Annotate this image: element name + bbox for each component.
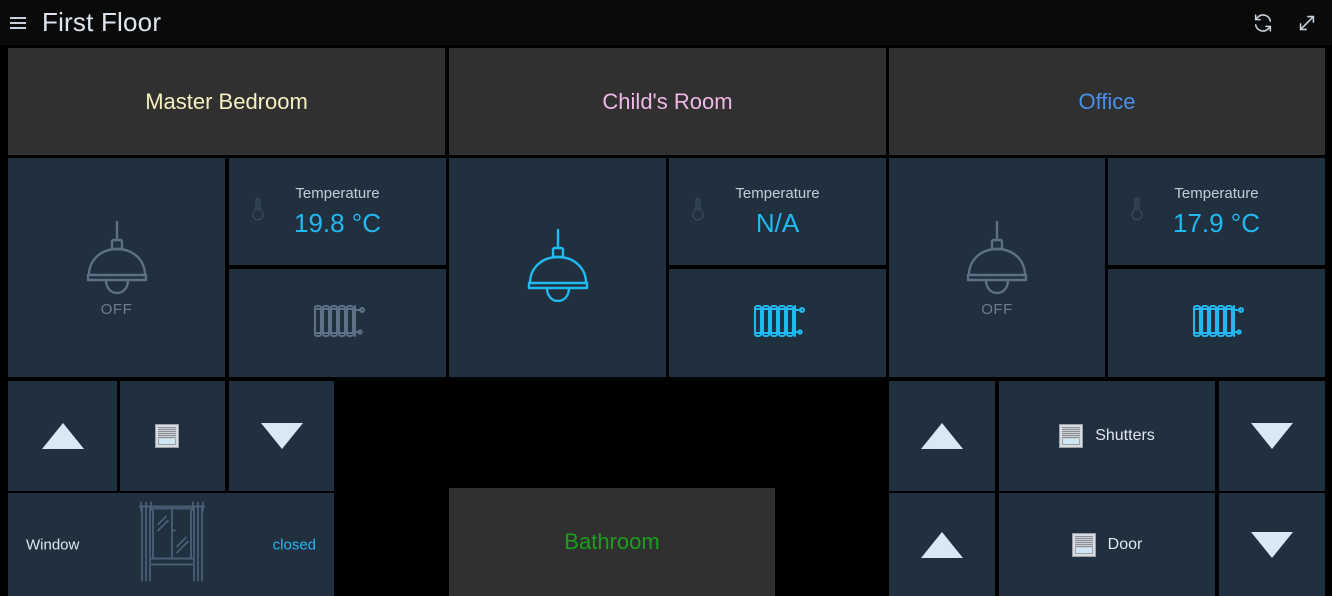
room-header-office[interactable]: Office: [889, 48, 1325, 155]
pendant-lamp-icon: [961, 218, 1033, 299]
cover-stop-label: Shutters: [1095, 427, 1155, 445]
blinds-icon: [1072, 533, 1096, 557]
refresh-icon[interactable]: [1252, 12, 1274, 34]
temperature-value: 17.9 °C: [1173, 206, 1260, 240]
room-label: Office: [1078, 89, 1135, 115]
light-tile-childs-room[interactable]: [449, 158, 666, 377]
window-with-curtains-icon: [128, 496, 214, 593]
app-header: First Floor: [0, 0, 1332, 45]
temperature-label: Temperature: [1174, 184, 1258, 204]
window-sensor-label: Window: [26, 536, 79, 553]
arrow-down-icon: [261, 423, 303, 449]
dashboard-grid: Master Bedroom Child's Room Office: [0, 45, 1332, 596]
temperature-value: 19.8 °C: [294, 206, 381, 240]
window-sensor-tile[interactable]: Window: [8, 493, 334, 596]
light-state-label: OFF: [101, 301, 133, 318]
pendant-lamp-icon: [81, 218, 153, 299]
cover-stop-button-master-bedroom[interactable]: [120, 381, 225, 491]
room-header-master-bedroom[interactable]: Master Bedroom: [8, 48, 445, 155]
room-header-childs-room[interactable]: Child's Room: [449, 48, 886, 155]
radiator-tile-office[interactable]: [1108, 269, 1325, 377]
temperature-label: Temperature: [735, 184, 819, 204]
thermometer-icon: [251, 196, 265, 227]
temperature-value: N/A: [756, 206, 799, 240]
blinds-icon: [155, 424, 179, 448]
room-label: Bathroom: [564, 529, 659, 555]
radiator-icon: [750, 298, 806, 349]
pendant-lamp-icon: [522, 226, 594, 307]
light-state-label: OFF: [981, 301, 1013, 318]
window-sensor-state: closed: [273, 536, 316, 553]
radiator-tile-master-bedroom[interactable]: [229, 269, 446, 377]
cover-down-button-master-bedroom[interactable]: [229, 381, 334, 491]
arrow-down-icon: [1251, 532, 1293, 558]
cover-up-button-office-shutters[interactable]: [889, 381, 995, 491]
room-header-bathroom[interactable]: Bathroom: [449, 488, 775, 596]
temperature-tile-office[interactable]: Temperature 17.9 °C: [1108, 158, 1325, 265]
radiator-tile-childs-room[interactable]: [669, 269, 886, 377]
room-label: Child's Room: [602, 89, 732, 115]
cover-stop-button-office-door[interactable]: Door: [999, 493, 1215, 596]
arrow-up-icon: [921, 423, 963, 449]
cover-stop-button-office-shutters[interactable]: Shutters: [999, 381, 1215, 491]
header-actions: [1252, 12, 1318, 34]
thermometer-icon: [691, 196, 705, 227]
radiator-icon: [310, 298, 366, 349]
arrow-up-icon: [42, 423, 84, 449]
cover-stop-label: Door: [1108, 536, 1143, 554]
light-tile-master-bedroom[interactable]: OFF: [8, 158, 225, 377]
page-title: First Floor: [42, 7, 161, 38]
cover-down-button-office-door[interactable]: [1219, 493, 1325, 596]
arrow-down-icon: [1251, 423, 1293, 449]
hamburger-menu-icon[interactable]: [10, 13, 30, 33]
room-label: Master Bedroom: [145, 89, 308, 115]
arrow-up-icon: [921, 532, 963, 558]
cover-down-button-office-shutters[interactable]: [1219, 381, 1325, 491]
temperature-tile-master-bedroom[interactable]: Temperature 19.8 °C: [229, 158, 446, 265]
temperature-tile-childs-room[interactable]: Temperature N/A: [669, 158, 886, 265]
cover-up-button-master-bedroom[interactable]: [8, 381, 117, 491]
thermometer-icon: [1130, 196, 1144, 227]
cover-up-button-office-door[interactable]: [889, 493, 995, 596]
fullscreen-expand-icon[interactable]: [1296, 12, 1318, 34]
light-tile-office[interactable]: OFF: [889, 158, 1105, 377]
radiator-icon: [1189, 298, 1245, 349]
temperature-label: Temperature: [295, 184, 379, 204]
blinds-icon: [1059, 424, 1083, 448]
